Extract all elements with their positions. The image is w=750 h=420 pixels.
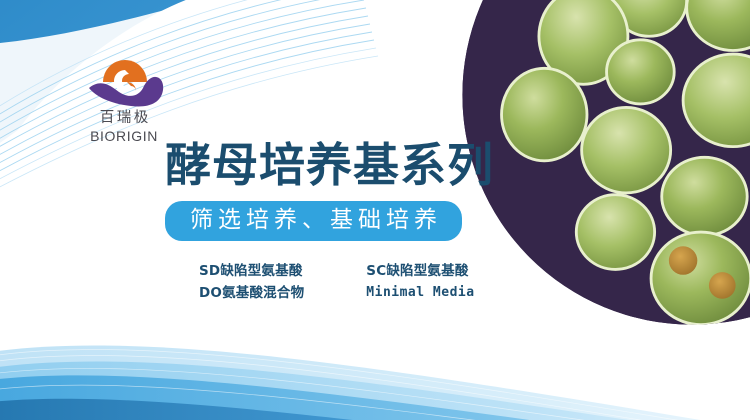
product-item: SD缺陷型氨基酸 — [199, 261, 304, 281]
product-list: SD缺陷型氨基酸 DO氨基酸混合物 SC缺陷型氨基酸 Minimal Media — [199, 261, 475, 304]
product-item: Minimal Media — [366, 283, 474, 303]
company-logo[interactable]: 百瑞极 BIORIGIN — [64, 52, 184, 144]
product-column-left: SD缺陷型氨基酸 DO氨基酸混合物 — [199, 261, 304, 304]
subtitle-badge: 筛选培养、基础培养 — [165, 201, 462, 242]
headline-block: 酵母培养基系列 筛选培养、基础培养 — [165, 140, 565, 241]
logo-name-cn: 百瑞极 — [64, 110, 184, 127]
biorigin-logo-mark — [81, 52, 167, 108]
product-item: SC缺陷型氨基酸 — [366, 261, 474, 281]
product-item: DO氨基酸混合物 — [199, 283, 304, 303]
product-column-right: SC缺陷型氨基酸 Minimal Media — [366, 261, 474, 304]
page-title: 酵母培养基系列 — [165, 140, 565, 191]
product-banner: 百瑞极 BIORIGIN 酵母培养基系列 筛选培养、基础培养 SD缺陷型氨基酸 … — [0, 0, 750, 420]
